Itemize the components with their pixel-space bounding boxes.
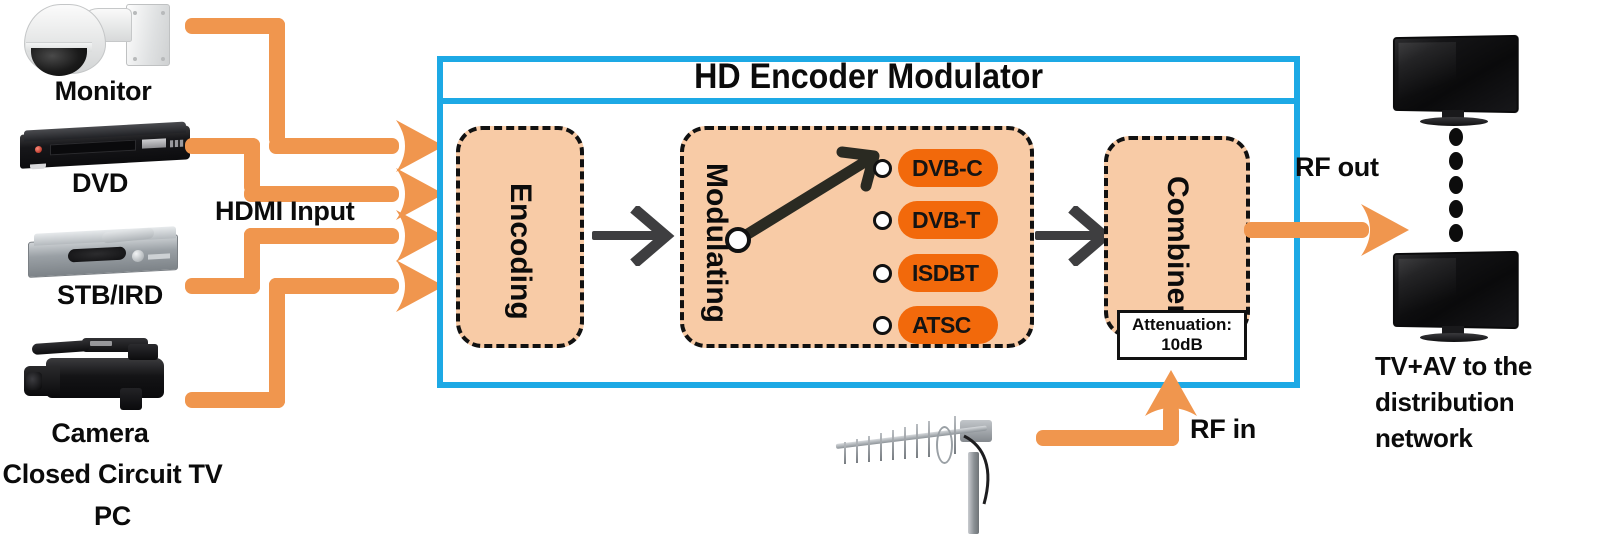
- yagi-antenna-icon: [836, 408, 996, 538]
- module-encoding[interactable]: Encoding: [456, 126, 584, 348]
- rf-in-wire-h: [1036, 430, 1179, 446]
- source-group-label-cctv: Closed Circuit TV: [0, 459, 225, 489]
- output-caption-line-1: TV+AV to the: [1375, 352, 1600, 381]
- vertical-dots-icon: [1443, 128, 1469, 248]
- source-label-camera: Camera: [10, 418, 190, 448]
- rf-in-label: RF in: [1190, 414, 1300, 444]
- rf-in-arrowhead: [1143, 368, 1199, 420]
- modulation-selector-switch[interactable]: [716, 136, 896, 256]
- hdmi-feed-1: [269, 138, 399, 154]
- option-dvb-t[interactable]: DVB-T: [898, 201, 998, 239]
- set-top-box-icon: [28, 228, 184, 280]
- hdmi-input-label: HDMI Input: [215, 196, 405, 226]
- option-atsc[interactable]: ATSC: [898, 306, 998, 344]
- hdmi-wire-monitor-v: [269, 18, 285, 146]
- module-encoding-label: Encoding: [503, 183, 537, 303]
- chassis-title-bar: HD Encoder Modulator: [437, 56, 1300, 104]
- module-combiner[interactable]: Combiner: [1104, 136, 1250, 338]
- attenuation-value: 10dB: [1161, 335, 1203, 355]
- rf-out-wire: [1244, 222, 1369, 238]
- radio-isdbt[interactable]: [873, 264, 892, 283]
- radio-atsc[interactable]: [873, 316, 892, 335]
- option-dvb-c[interactable]: DVB-C: [898, 149, 998, 187]
- radio-dvb-c[interactable]: [873, 159, 892, 178]
- rf-out-label: RF out: [1295, 152, 1425, 182]
- source-label-dvd: DVD: [10, 168, 190, 198]
- option-isdbt-label: ISDBT: [912, 260, 979, 287]
- hdmi-wire-camera-v: [269, 278, 285, 408]
- radio-dvb-t[interactable]: [873, 211, 892, 230]
- flat-tv-icon-top: [1390, 36, 1520, 128]
- rf-out-arrowhead: [1357, 202, 1413, 258]
- hdmi-feed-4: [269, 278, 399, 294]
- output-caption-line-2: distribution: [1375, 388, 1600, 417]
- dvd-player-icon: [20, 122, 192, 172]
- flow-arrow-1-head: [630, 206, 676, 266]
- camcorder-icon: [24, 336, 172, 416]
- attenuation-label: Attenuation:: [1132, 315, 1232, 335]
- ptz-dome-camera-icon: [18, 2, 188, 80]
- option-dvb-c-label: DVB-C: [912, 155, 982, 182]
- diagram-canvas: Monitor DVD STB/IRD Camera Closed Circui…: [0, 0, 1600, 545]
- attenuation-readout[interactable]: Attenuation: 10dB: [1117, 310, 1247, 360]
- source-label-stb: STB/IRD: [10, 280, 210, 310]
- source-group-label-pc: PC: [0, 501, 225, 531]
- flat-tv-icon-bottom: [1390, 252, 1520, 344]
- module-combiner-label: Combiner: [1160, 176, 1194, 314]
- hdmi-feed-3: [244, 228, 399, 244]
- output-caption-line-3: network: [1375, 424, 1600, 453]
- option-atsc-label: ATSC: [912, 312, 971, 339]
- page-title: HD Encoder Modulator: [694, 57, 1043, 97]
- option-isdbt[interactable]: ISDBT: [898, 254, 998, 292]
- source-label-monitor: Monitor: [18, 76, 188, 106]
- option-dvb-t-label: DVB-T: [912, 207, 980, 234]
